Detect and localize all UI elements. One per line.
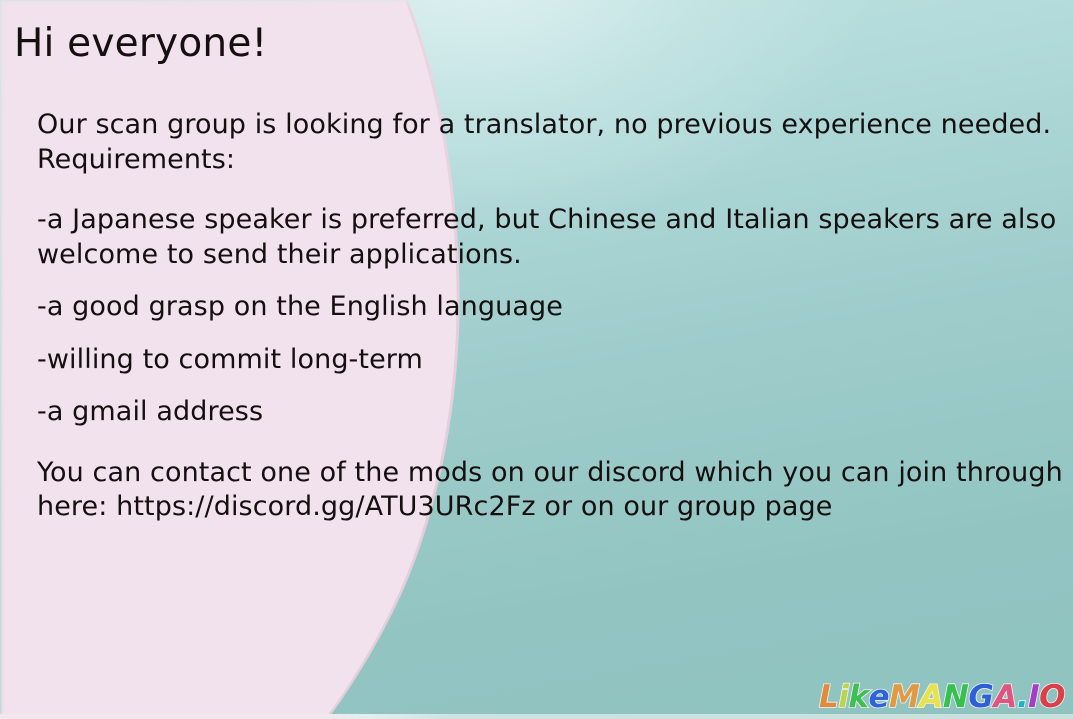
watermark-letter: L	[819, 682, 838, 713]
likemanga-watermark: LikeMANGA.IO	[819, 682, 1065, 713]
watermark-letter: k	[848, 682, 868, 713]
announcement-body: Our scan group is looking for a translat…	[37, 108, 1067, 525]
spacer	[37, 272, 1067, 290]
spacer	[37, 325, 1067, 343]
watermark-letter: G	[968, 682, 993, 713]
requirement-item-long-term: -willing to commit long-term	[37, 343, 1067, 378]
watermark-letter: A	[919, 682, 943, 713]
requirement-item-english: -a good grasp on the English language	[37, 290, 1067, 325]
announcement-page: Hi everyone! Our scan group is looking f…	[0, 0, 1073, 719]
spacer	[37, 430, 1067, 456]
watermark-letter: I	[1028, 682, 1039, 713]
spacer	[37, 377, 1067, 395]
watermark-letter: M	[889, 682, 919, 713]
requirement-item-language-preference: -a Japanese speaker is preferred, but Ch…	[37, 203, 1067, 272]
contact-paragraph: You can contact one of the mods on our d…	[37, 456, 1067, 525]
announcement-content: Hi everyone! Our scan group is looking f…	[0, 0, 1073, 719]
watermark-letter: i	[838, 682, 848, 713]
watermark-letter: e	[869, 682, 890, 713]
watermark-letter: O	[1039, 682, 1065, 713]
page-title: Hi everyone!	[14, 24, 267, 63]
spacer	[37, 177, 1067, 203]
requirement-item-gmail: -a gmail address	[37, 395, 1067, 430]
watermark-letter: .	[1017, 682, 1028, 713]
watermark-letter: N	[943, 682, 968, 713]
watermark-letter: A	[993, 682, 1017, 713]
intro-paragraph: Our scan group is looking for a translat…	[37, 108, 1067, 177]
